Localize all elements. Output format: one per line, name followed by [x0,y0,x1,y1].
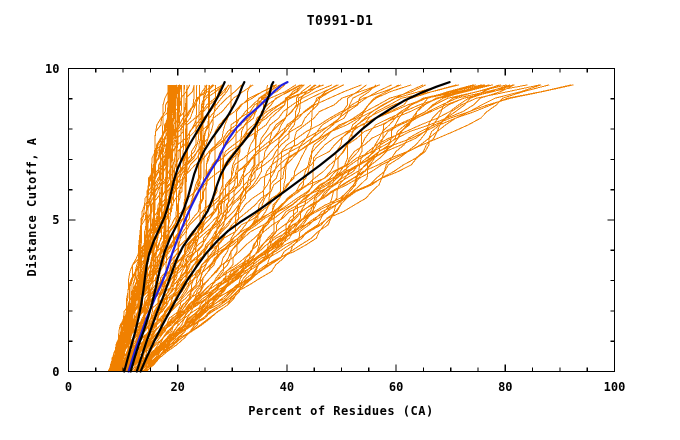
x-tick-label: 40 [280,380,294,394]
x-tick-label: 0 [65,380,72,394]
y-tick-label: 10 [45,62,59,76]
curves-layer [108,82,573,371]
chart-page: T0991-D1 Distance Cutoff, A Percent of R… [0,0,680,440]
y-tick-label: 5 [52,213,59,227]
plot-canvas [0,0,680,440]
y-tick-label: 0 [52,365,59,379]
x-tick-label: 60 [389,380,403,394]
x-tick-label: 20 [170,380,184,394]
x-tick-label: 100 [604,380,626,394]
x-tick-label: 80 [498,380,512,394]
